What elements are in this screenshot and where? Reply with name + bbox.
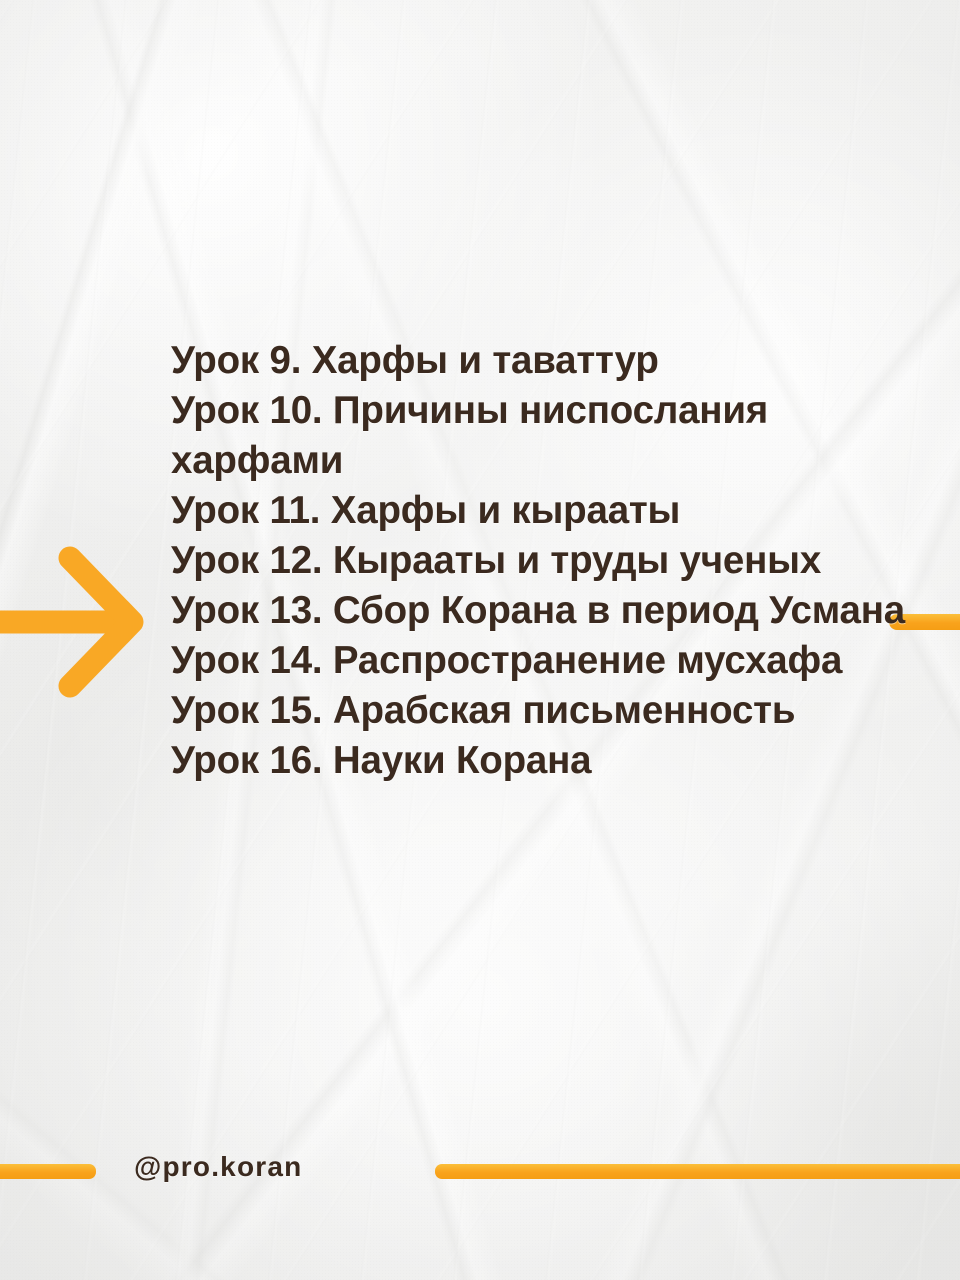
accent-bar-footer-right [435, 1164, 960, 1179]
list-item: Урок 13. Сбор Корана в период Усмана [171, 586, 911, 636]
list-item: Урок 9. Харфы и таваттур [171, 336, 911, 386]
arrow-right-icon [0, 540, 150, 705]
accent-bar-footer-left [0, 1164, 96, 1179]
slide-canvas: Урок 9. Харфы и таваттур Урок 10. Причин… [0, 0, 960, 1280]
list-item: Урок 15. Арабская письменность [171, 686, 911, 736]
list-item: Урок 12. Кырааты и труды ученых [171, 536, 911, 586]
list-item: Урок 11. Харфы и кырааты [171, 486, 911, 536]
lesson-list: Урок 9. Харфы и таваттур Урок 10. Причин… [171, 336, 911, 786]
list-item: Урок 14. Распространение мусхафа [171, 636, 911, 686]
account-handle: @pro.koran [134, 1151, 302, 1183]
list-item: Урок 16. Науки Корана [171, 736, 911, 786]
list-item: Урок 10. Причины ниспослания харфами [171, 386, 911, 486]
